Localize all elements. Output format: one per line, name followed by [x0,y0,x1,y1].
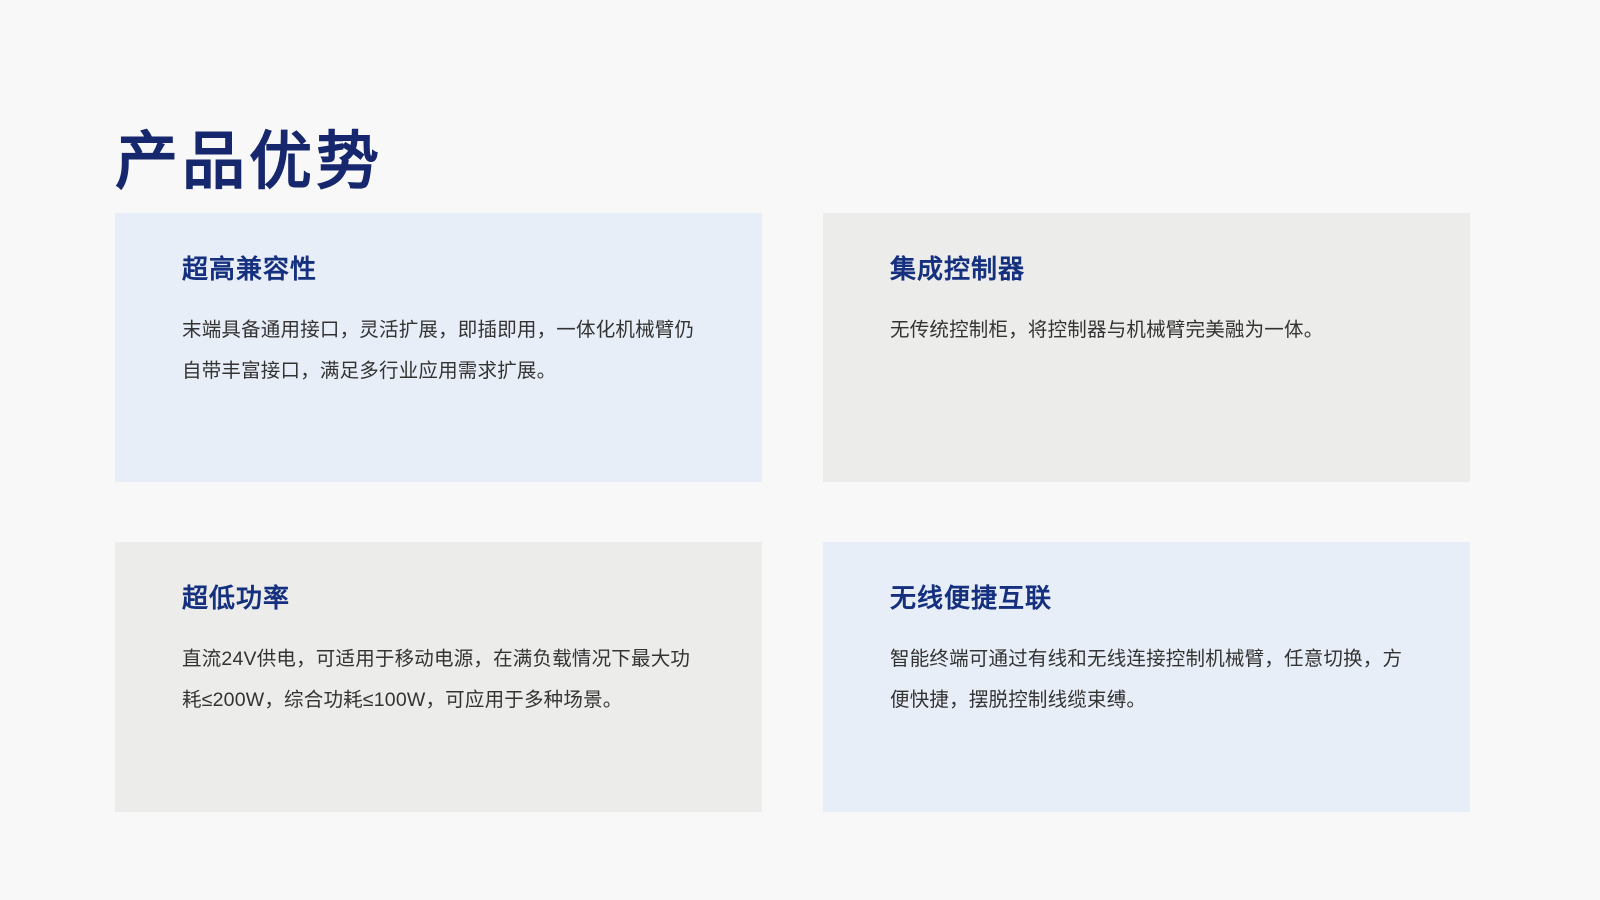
advantage-card-wireless-connectivity: 无线便捷互联 智能终端可通过有线和无线连接控制机械臂，任意切换，方便快捷，摆脱控… [823,542,1470,812]
advantage-card-compatibility: 超高兼容性 末端具备通用接口，灵活扩展，即插即用，一体化机械臂仍自带丰富接口，满… [115,213,762,482]
card-body: 智能终端可通过有线和无线连接控制机械臂，任意切换，方便快捷，摆脱控制线缆束缚。 [890,615,1404,721]
card-body: 末端具备通用接口，灵活扩展，即插即用，一体化机械臂仍自带丰富接口，满足多行业应用… [182,286,696,392]
card-body: 直流24V供电，可适用于移动电源，在满负载情况下最大功耗≤200W，综合功耗≤1… [182,615,696,721]
card-title: 超低功率 [182,582,696,615]
page-title: 产品优势 [115,126,383,198]
card-title: 集成控制器 [890,253,1404,286]
card-title: 超高兼容性 [182,253,696,286]
card-body: 无传统控制柜，将控制器与机械臂完美融为一体。 [890,286,1404,351]
product-advantages-page: 产品优势 超高兼容性 末端具备通用接口，灵活扩展，即插即用，一体化机械臂仍自带丰… [0,0,1600,900]
advantage-cards-grid: 超高兼容性 末端具备通用接口，灵活扩展，即插即用，一体化机械臂仍自带丰富接口，满… [115,213,1470,812]
card-title: 无线便捷互联 [890,582,1404,615]
advantage-card-low-power: 超低功率 直流24V供电，可适用于移动电源，在满负载情况下最大功耗≤200W，综… [115,542,762,812]
advantage-card-integrated-controller: 集成控制器 无传统控制柜，将控制器与机械臂完美融为一体。 [823,213,1470,482]
